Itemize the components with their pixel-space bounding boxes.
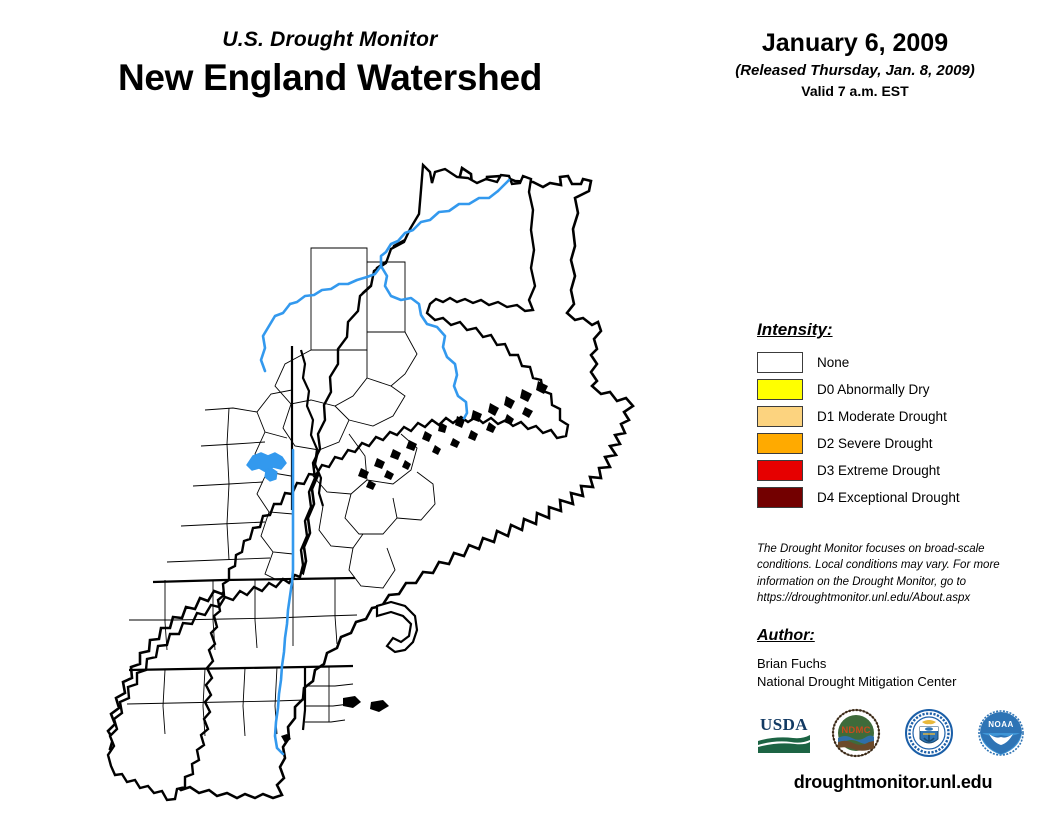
legend-item-d3[interactable]: D3 Extreme Drought (757, 457, 1027, 484)
noaa-logo[interactable]: NOAA (972, 706, 1030, 760)
legend-swatch-none (757, 352, 803, 373)
legend-swatch-d0 (757, 379, 803, 400)
title-block: U.S. Drought Monitor New England Watersh… (0, 28, 660, 100)
website-url[interactable]: droughtmonitor.unl.edu (757, 772, 1029, 793)
legend-item-d1[interactable]: D1 Moderate Drought (757, 403, 1027, 430)
lake-winnipesaukee (247, 453, 286, 472)
legend-swatch-d2 (757, 433, 803, 454)
valid-time: Valid 7 a.m. EST (690, 83, 1020, 99)
legend-item-d4[interactable]: D4 Exceptional Drought (757, 484, 1027, 511)
valid-date: January 6, 2009 (690, 30, 1020, 58)
product-subtitle: U.S. Drought Monitor (0, 28, 660, 51)
intensity-legend: Intensity: None D0 Abnormally Dry D1 Mod… (757, 320, 1027, 511)
legend-swatch-d3 (757, 460, 803, 481)
legend-label-d2: D2 Severe Drought (817, 436, 933, 451)
legend-item-d0[interactable]: D0 Abnormally Dry (757, 376, 1027, 403)
legend-label-d0: D0 Abnormally Dry (817, 382, 930, 397)
author-name: Brian Fuchs (757, 655, 1027, 673)
svg-text:NDMC: NDMC (842, 725, 871, 736)
release-date: (Released Thursday, Jan. 8, 2009) (690, 62, 1020, 79)
ndmc-logo[interactable]: NDMC (827, 706, 885, 760)
lake-winnipesaukee-arm (265, 468, 277, 481)
legend-label-d4: D4 Exceptional Drought (817, 490, 960, 505)
author-block: Author: Brian Fuchs National Drought Mit… (757, 627, 1027, 690)
agency-logos: USDA NDMC (755, 706, 1030, 760)
legend-swatch-d1 (757, 406, 803, 427)
svg-text:NOAA: NOAA (988, 720, 1014, 729)
author-affiliation: National Drought Mitigation Center (757, 673, 1027, 691)
legend-label-d1: D1 Moderate Drought (817, 409, 947, 424)
date-block: January 6, 2009 (Released Thursday, Jan.… (690, 30, 1020, 99)
author-heading: Author: (757, 627, 1027, 645)
cape-cod (377, 602, 417, 652)
legend-label-none: None (817, 355, 849, 370)
svg-text:USDA: USDA (760, 715, 808, 734)
legend-item-d2[interactable]: D2 Severe Drought (757, 430, 1027, 457)
disclaimer-text: The Drought Monitor focuses on broad-sca… (757, 541, 1025, 606)
page-title: New England Watershed (0, 57, 660, 100)
drought-map[interactable] (105, 150, 645, 810)
legend-item-none[interactable]: None (757, 349, 1027, 376)
legend-label-d3: D3 Extreme Drought (817, 463, 940, 478)
legend-swatch-d4 (757, 487, 803, 508)
legend-heading: Intensity: (757, 320, 1027, 340)
usda-logo[interactable]: USDA (755, 706, 813, 760)
noaa-seal-logo[interactable] (900, 706, 958, 760)
